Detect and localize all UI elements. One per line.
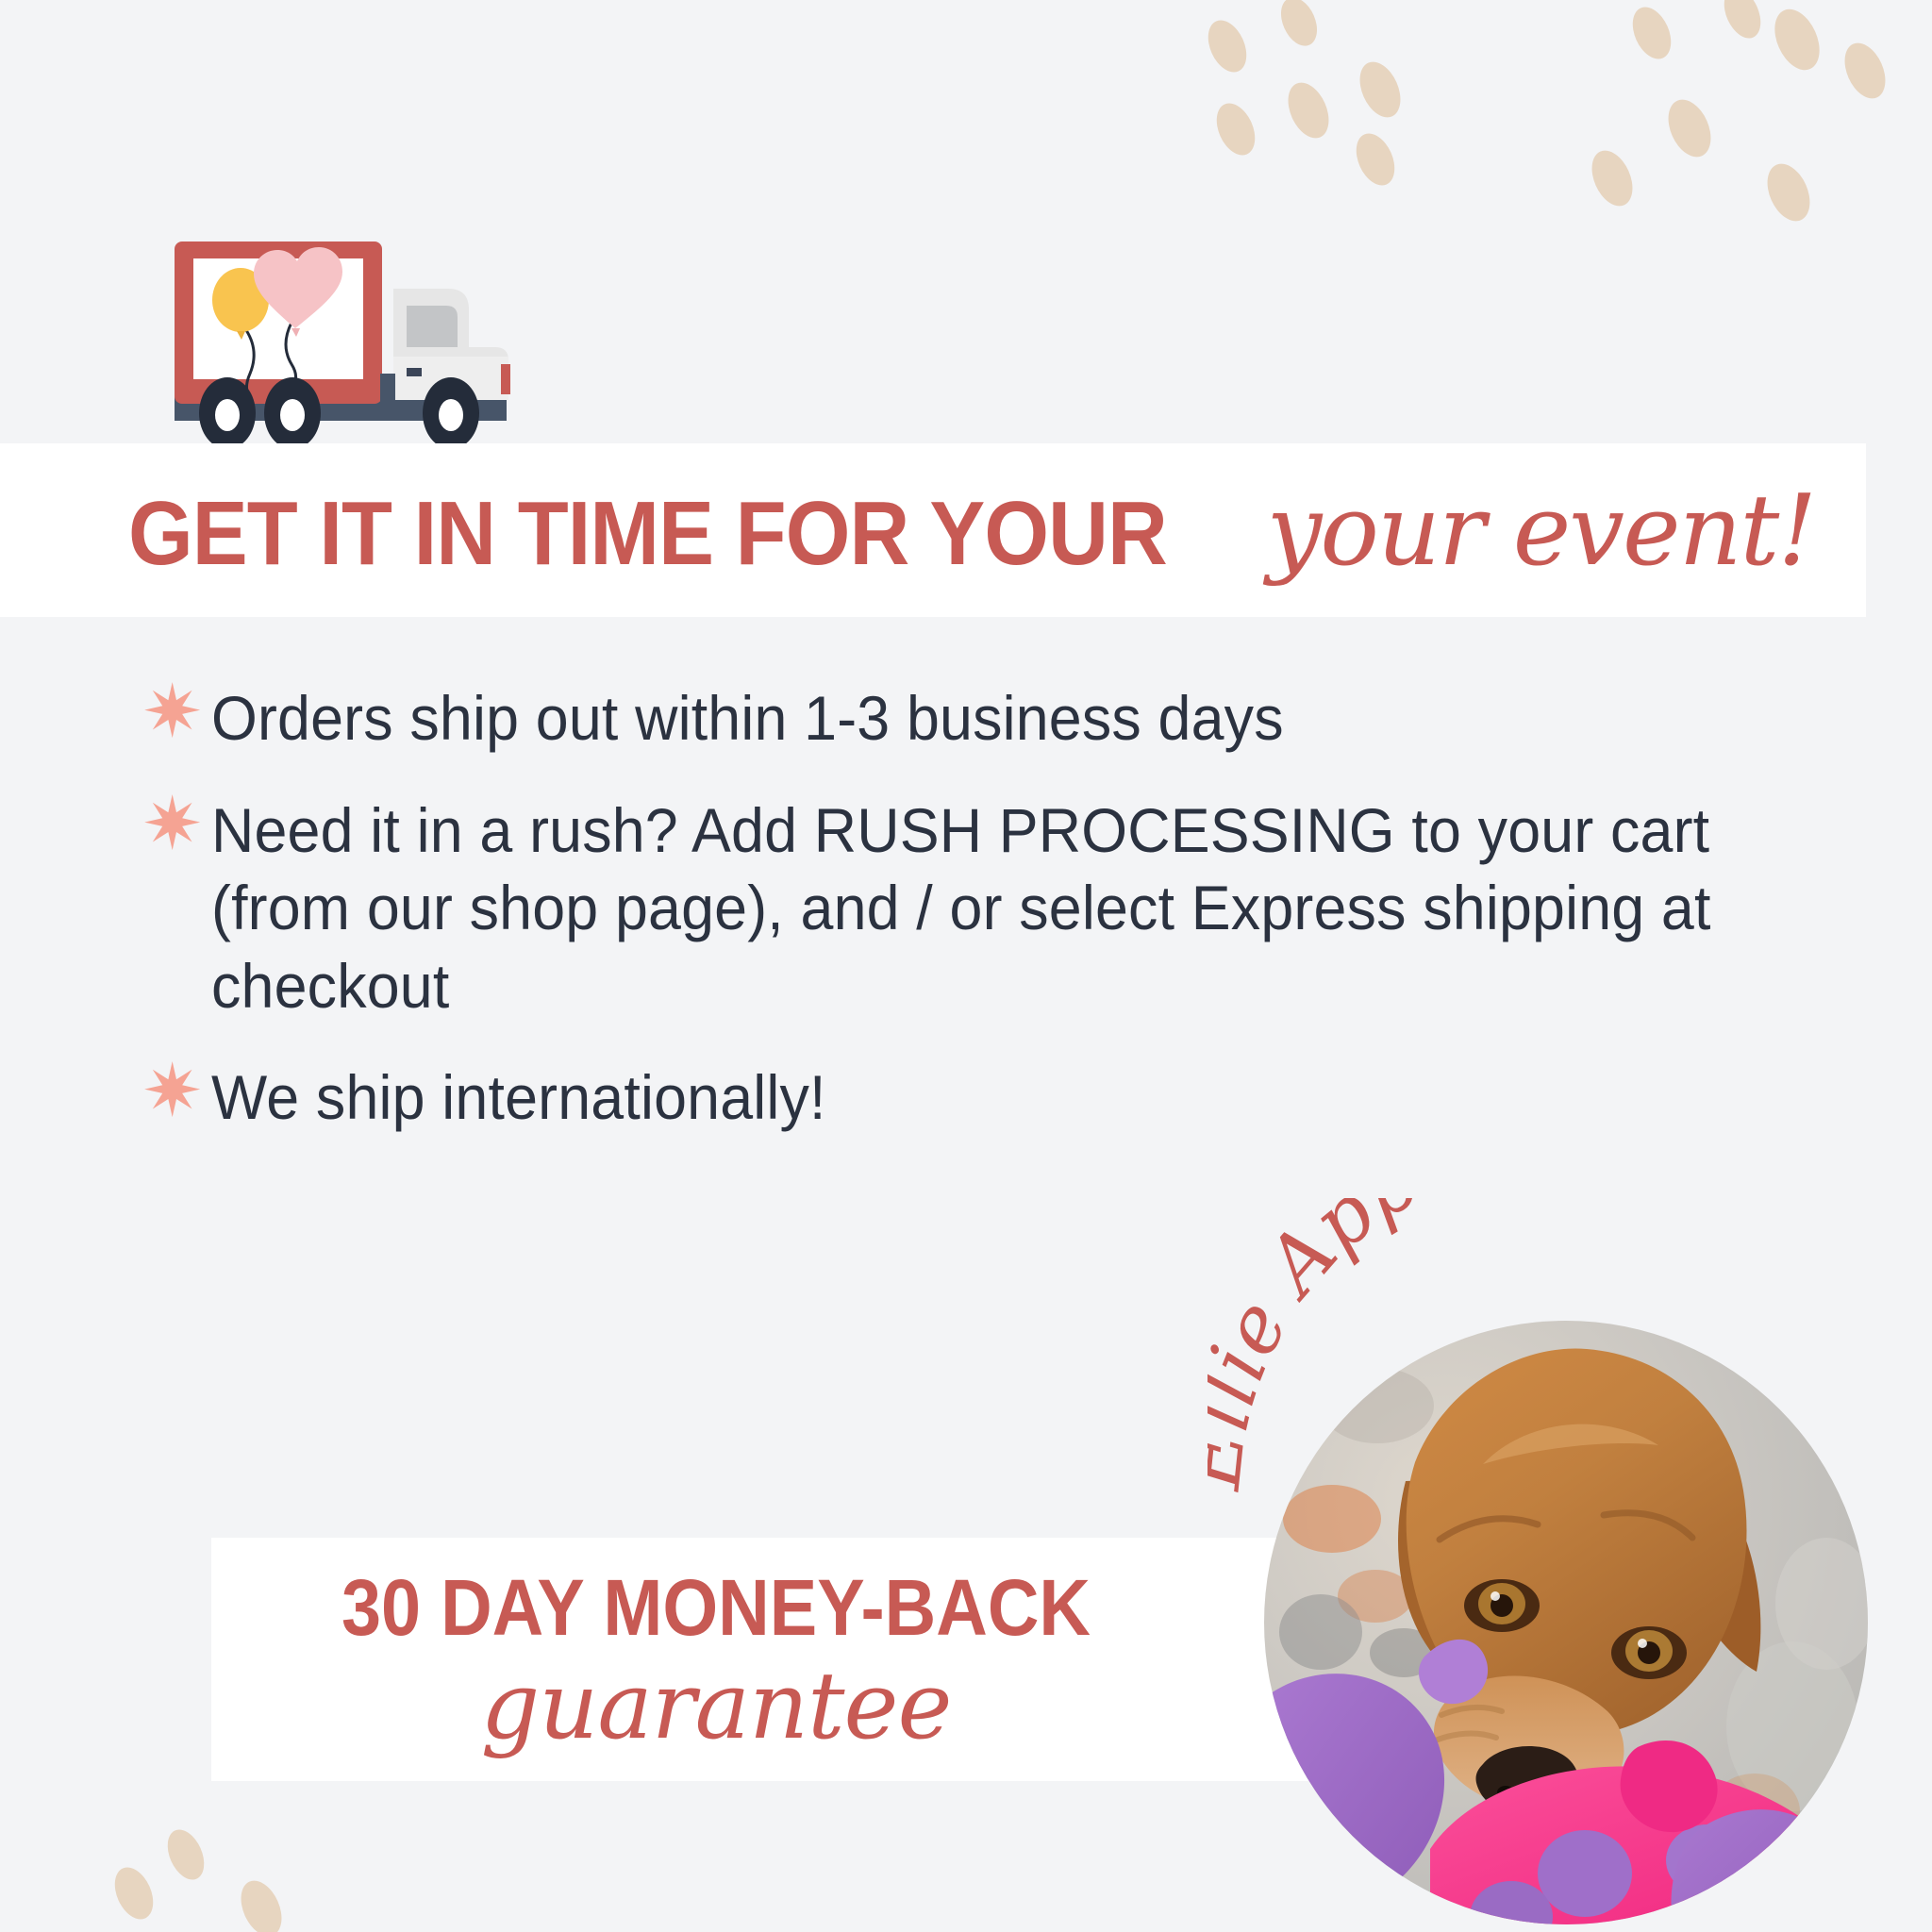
truck-wheel-rear-2 xyxy=(264,377,321,449)
confetti-dot xyxy=(233,1874,290,1932)
dog-eye-right xyxy=(1611,1626,1687,1679)
plush-toy-purple-left xyxy=(1264,1674,1444,1924)
truck-wheel-rear-1 xyxy=(199,377,256,449)
confetti-dot xyxy=(1660,93,1720,164)
confetti-dot xyxy=(1349,127,1402,192)
list-item-label: Need it in a rush? Add RUSH PROCESSING t… xyxy=(211,791,1758,1025)
confetti-dot xyxy=(1209,97,1262,161)
list-item-label: Orders ship out within 1-3 business days xyxy=(211,679,1758,758)
guarantee-script-text: guarantee xyxy=(211,1653,1221,1760)
ellie-dog-photo xyxy=(1264,1321,1868,1924)
asterisk-icon: ✷ xyxy=(142,791,211,859)
confetti-dot xyxy=(160,1824,211,1886)
plush-spot-4 xyxy=(1743,1855,1834,1924)
plush-spot-1 xyxy=(1538,1830,1632,1917)
confetti-dot xyxy=(1352,56,1408,124)
guarantee-headline: 30 DAY MONEY-BACK xyxy=(262,1562,1171,1654)
shipping-bullet-list: ✷ Orders ship out within 1-3 business da… xyxy=(142,679,1840,1171)
truck-wheel-front xyxy=(423,377,479,449)
truck-tail-light xyxy=(501,364,510,394)
confetti-dot xyxy=(1201,14,1254,78)
confetti-dot xyxy=(1274,0,1324,52)
confetti-dot xyxy=(1766,2,1828,76)
confetti-dot xyxy=(1584,144,1641,212)
confetti-dot xyxy=(1837,37,1893,105)
shipping-info-graphic: GET IT IN TIME FOR YOURyour event! ✷ Ord… xyxy=(0,0,1932,1932)
headline-script-text: your event! xyxy=(1267,473,1816,588)
headline-text: GET IT IN TIME FOR YOURyour event! xyxy=(0,481,1815,579)
delivery-truck-icon xyxy=(175,225,571,470)
confetti-dot xyxy=(1717,0,1768,43)
truck-connector xyxy=(380,374,395,404)
confetti-dot xyxy=(108,1861,160,1925)
headline-banner: GET IT IN TIME FOR YOURyour event! xyxy=(0,443,1866,617)
guarantee-banner: 30 DAY MONEY-BACK guarantee xyxy=(211,1538,1409,1781)
truck-window xyxy=(407,306,458,347)
list-item: ✷ Need it in a rush? Add RUSH PROCESSING… xyxy=(142,791,1840,1025)
truck-door-handle xyxy=(407,368,422,376)
confetti-dot xyxy=(1280,76,1337,144)
dog-eye-left xyxy=(1464,1579,1540,1632)
list-item-label: We ship internationally! xyxy=(211,1058,1758,1137)
list-item: ✷ We ship internationally! xyxy=(142,1058,1840,1137)
confetti-dot xyxy=(1625,1,1678,65)
headline-strong-text: GET IT IN TIME FOR YOUR xyxy=(128,489,1167,579)
asterisk-icon: ✷ xyxy=(142,1058,211,1126)
asterisk-icon: ✷ xyxy=(142,679,211,747)
list-item: ✷ Orders ship out within 1-3 business da… xyxy=(142,679,1840,758)
confetti-dot xyxy=(1759,158,1819,228)
